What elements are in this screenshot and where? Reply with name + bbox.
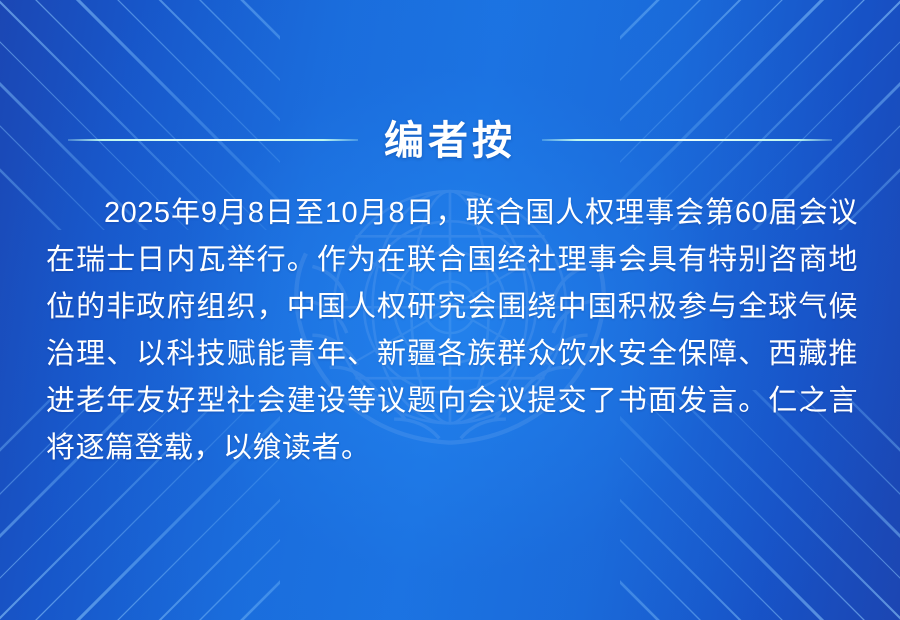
title-rule-right <box>542 139 832 141</box>
editorial-note-body: 2025年9月8日至10月8日，联合国人权理事会第60届会议在瑞士日内瓦举行。作… <box>46 190 858 472</box>
poster-header: 编者按 <box>0 106 900 168</box>
page-title: 编者按 <box>384 108 516 166</box>
title-rule-left <box>68 139 358 141</box>
editorial-note-poster: 编者按 2025年9月8日至10月8日，联合国人权理事会第60届会议在瑞士日内瓦… <box>0 0 900 620</box>
